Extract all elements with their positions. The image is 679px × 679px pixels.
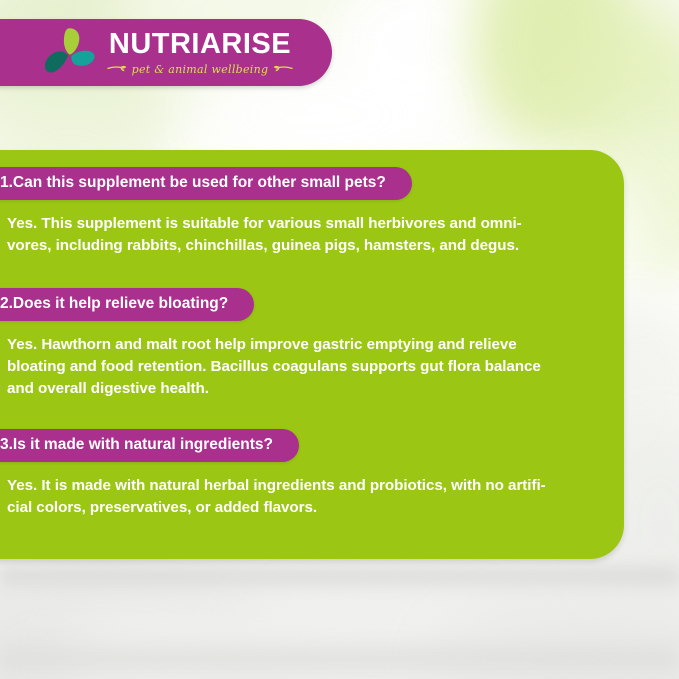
surface-seam	[0, 636, 679, 676]
faq-answer-line: Yes. Hawthorn and malt root help improve…	[7, 334, 584, 356]
brand-block: NUTRIARISE pet & animal wellbeing	[107, 27, 293, 78]
surface-seam	[0, 560, 679, 594]
faq-answer: Yes. It is made with natural herbal ingr…	[0, 475, 624, 519]
faq-answer-line: bloating and food retention. Bacillus co…	[7, 356, 584, 378]
faq-answer-line: Yes. This supplement is suitable for var…	[7, 213, 584, 235]
faq-answer-line: and overall digestive health.	[7, 378, 584, 400]
leaf-flourish-right-icon	[273, 60, 293, 78]
faq-answer-line: cial colors, preservatives, or added fla…	[7, 497, 584, 519]
faq-item: 2.Does it help relieve bloating? Yes. Ha…	[0, 288, 624, 400]
faq-item: 3.Is it made with natural ingredients? Y…	[0, 429, 624, 519]
faq-question-pill[interactable]: 2.Does it help relieve bloating?	[0, 288, 254, 321]
leaf-flourish-left-icon	[107, 60, 127, 78]
trefoil-leaf-icon	[42, 25, 98, 79]
tagline-row: pet & animal wellbeing	[107, 60, 293, 78]
faq-answer-line: Yes. It is made with natural herbal ingr…	[7, 475, 584, 497]
brand-header-bar: NUTRIARISE pet & animal wellbeing	[0, 19, 332, 86]
faq-question-pill[interactable]: 3.Is it made with natural ingredients?	[0, 429, 299, 462]
faq-item: 1.Can this supplement be used for other …	[0, 167, 624, 257]
faq-question-pill[interactable]: 1.Can this supplement be used for other …	[0, 167, 412, 200]
brand-tagline: pet & animal wellbeing	[132, 63, 269, 76]
faq-answer: Yes. Hawthorn and malt root help improve…	[0, 334, 624, 400]
brand-name: NUTRIARISE	[107, 27, 293, 61]
faq-infographic: NUTRIARISE pet & animal wellbeing	[0, 0, 679, 679]
faq-answer: Yes. This supplement is suitable for var…	[0, 213, 624, 257]
faq-panel: 1.Can this supplement be used for other …	[0, 150, 624, 559]
faq-answer-line: vores, including rabbits, chinchillas, g…	[7, 235, 584, 257]
